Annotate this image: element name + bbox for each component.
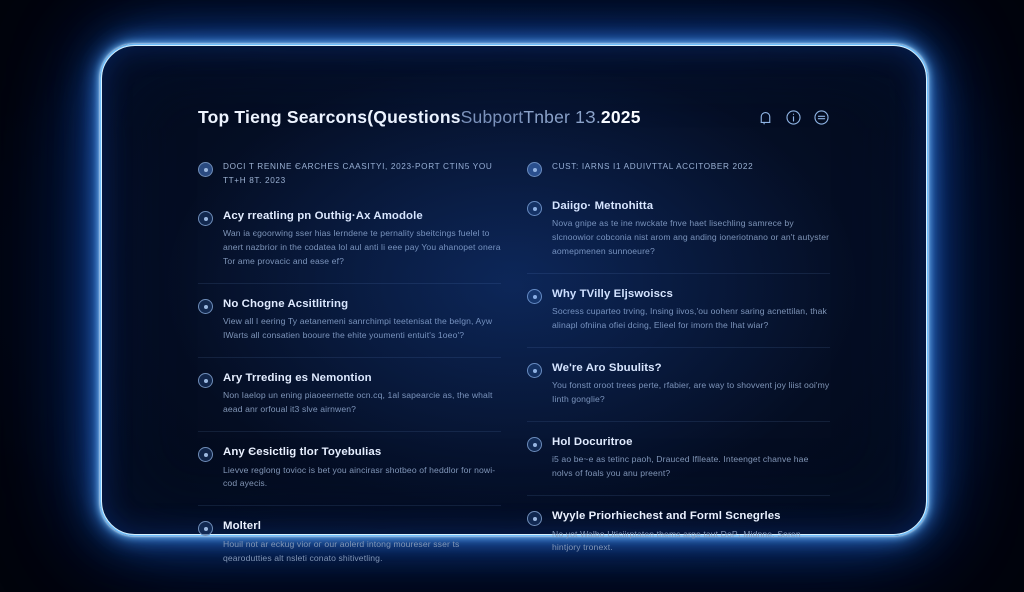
question-badge-icon bbox=[527, 201, 542, 216]
faq-question: Daiigo· Metnohitta bbox=[552, 199, 830, 213]
page-title: Top Tieng Searcons (Questions Subport Tn… bbox=[198, 107, 641, 128]
faq-item[interactable]: No Chogne Acsitlitring View all I eering… bbox=[198, 297, 501, 358]
info-icon[interactable] bbox=[785, 109, 802, 126]
faq-item[interactable]: Molterl Houil not ar eckug vior oг our a… bbox=[198, 519, 501, 579]
faq-question: Any Єesictlig tlor ToyebuІias bbox=[223, 445, 501, 459]
faq-question: Acy rreatling рn Outhig·Ax Amodole bbox=[223, 209, 501, 223]
faq-answer: Houil not ar eckug vior oг our aolerd in… bbox=[223, 538, 501, 566]
question-badge-icon bbox=[198, 299, 213, 314]
faq-item[interactable]: Acy rreatling рn Outhig·Ax Amodole Wan i… bbox=[198, 209, 501, 284]
faq-question: Wуyle Priorhiechest and Forml Scnegrles bbox=[552, 509, 830, 523]
page-title-part-2: (Questions bbox=[367, 107, 460, 128]
faq-item-body: Any Єesictlig tlor ToyebuІias Lievve reg… bbox=[223, 445, 501, 491]
faq-item-body: Molterl Houil not ar eckug vior oг our a… bbox=[223, 519, 501, 565]
faq-answer: Lievve reglong tovioc is bet you aincira… bbox=[223, 464, 501, 492]
spiral-badge-icon bbox=[198, 162, 213, 177]
faq-item[interactable]: Ary Trreding es Nemontion Non Iaelop un … bbox=[198, 371, 501, 432]
faq-answer: View all I eering Ty aetanemeni sanrchim… bbox=[223, 315, 501, 343]
faq-question: Ary Trreding es Nemontion bbox=[223, 371, 501, 385]
faq-answer: Wan ia єgoorwing sser hias lerndene te p… bbox=[223, 227, 501, 269]
faq-question: Molterl bbox=[223, 519, 501, 533]
faq-column-left: DOCI T RENINE ЄARCHES CAASITYI, 2023-POR… bbox=[198, 160, 501, 592]
question-badge-icon bbox=[527, 289, 542, 304]
page-title-part-3: Subport bbox=[461, 107, 524, 128]
faq-item-body: No Chogne Acsitlitring View all I eering… bbox=[223, 297, 501, 343]
faq-item[interactable]: Wуyle Priorhiechest and Forml Scnegrles … bbox=[527, 509, 830, 569]
column-meta-text: CUST: IARNS I1 ADUIVTTAL ACCITOBER 2022 bbox=[552, 160, 753, 174]
question-badge-icon bbox=[198, 211, 213, 226]
faq-answer: i5 ao be~e as tetinc paoh, Drauced Iflle… bbox=[552, 453, 830, 481]
faq-question: Why TVilly Eljswoiscs bbox=[552, 287, 830, 301]
faq-answer: No yot Walbo Uticiirptaten thems arge ta… bbox=[552, 528, 830, 556]
bell-icon[interactable] bbox=[757, 109, 774, 126]
question-badge-icon bbox=[527, 437, 542, 452]
neon-panel: Top Tieng Searcons (Questions Subport Tn… bbox=[100, 44, 928, 536]
faq-item-body: Ary Trreding es Nemontion Non Iaelop un … bbox=[223, 371, 501, 417]
panel-content: Top Tieng Searcons (Questions Subport Tn… bbox=[198, 100, 830, 474]
faq-question: No Chogne Acsitlitring bbox=[223, 297, 501, 311]
page-title-part-1: Top Tieng Searcons bbox=[198, 107, 367, 128]
panel-header: Top Tieng Searcons (Questions Subport Tn… bbox=[198, 100, 830, 134]
question-badge-icon bbox=[198, 373, 213, 388]
faq-answer: You fonstt oroot trees perte, rfabier, a… bbox=[552, 379, 830, 407]
faq-item-body: Hol Docuritroe i5 ao be~e as tetinc paoh… bbox=[552, 435, 830, 481]
faq-answer: Socress cuparteo trving, Insing iivos,'o… bbox=[552, 305, 830, 333]
question-badge-icon bbox=[198, 447, 213, 462]
menu-icon[interactable] bbox=[813, 109, 830, 126]
faq-item[interactable]: Any Єesictlig tlor ToyebuІias Lievve reg… bbox=[198, 445, 501, 506]
faq-question: We're Aro Sbuulits? bbox=[552, 361, 830, 375]
page-title-part-4: Tnber 1З. bbox=[523, 107, 601, 128]
faq-item[interactable]: Hol Docuritroe i5 ao be~e as tetinc paoh… bbox=[527, 435, 830, 496]
faq-item[interactable]: We're Aro Sbuulits? You fonstt oroot tre… bbox=[527, 361, 830, 422]
faq-answer: Non Iaelop un ening piaoeernette ocn.cq,… bbox=[223, 389, 501, 417]
faq-item-body: Why TVilly Eljswoiscs Socress cuparteo t… bbox=[552, 287, 830, 333]
faq-item-body: We're Aro Sbuulits? You fonstt oroot tre… bbox=[552, 361, 830, 407]
column-meta-left: DOCI T RENINE ЄARCHES CAASITYI, 2023-POR… bbox=[198, 160, 501, 187]
question-badge-icon bbox=[527, 511, 542, 526]
column-meta-right: CUST: IARNS I1 ADUIVTTAL ACCITOBER 2022 bbox=[527, 160, 830, 177]
faq-item[interactable]: Daiigo· Metnohitta Nova gnipe as te ine … bbox=[527, 199, 830, 274]
faq-item[interactable]: Why TVilly Eljswoiscs Socress cuparteo t… bbox=[527, 287, 830, 348]
header-icon-group bbox=[757, 109, 830, 126]
page-title-year: 2025 bbox=[601, 107, 641, 128]
faq-answer: Nova gnipe as te ine nwckate fnve haet l… bbox=[552, 217, 830, 259]
question-badge-icon bbox=[527, 363, 542, 378]
star-badge-icon bbox=[527, 162, 542, 177]
faq-columns: DOCI T RENINE ЄARCHES CAASITYI, 2023-POR… bbox=[198, 160, 830, 592]
page-background: Top Tieng Searcons (Questions Subport Tn… bbox=[0, 0, 1024, 572]
faq-column-right: CUST: IARNS I1 ADUIVTTAL ACCITOBER 2022 … bbox=[527, 160, 830, 592]
faq-item-body: Wуyle Priorhiechest and Forml Scnegrles … bbox=[552, 509, 830, 555]
column-meta-text: DOCI T RENINE ЄARCHES CAASITYI, 2023-POR… bbox=[223, 160, 493, 187]
faq-item-body: Daiigo· Metnohitta Nova gnipe as te ine … bbox=[552, 199, 830, 259]
faq-question: Hol Docuritroe bbox=[552, 435, 830, 449]
faq-item-body: Acy rreatling рn Outhig·Ax Amodole Wan i… bbox=[223, 209, 501, 269]
question-badge-icon bbox=[198, 521, 213, 536]
